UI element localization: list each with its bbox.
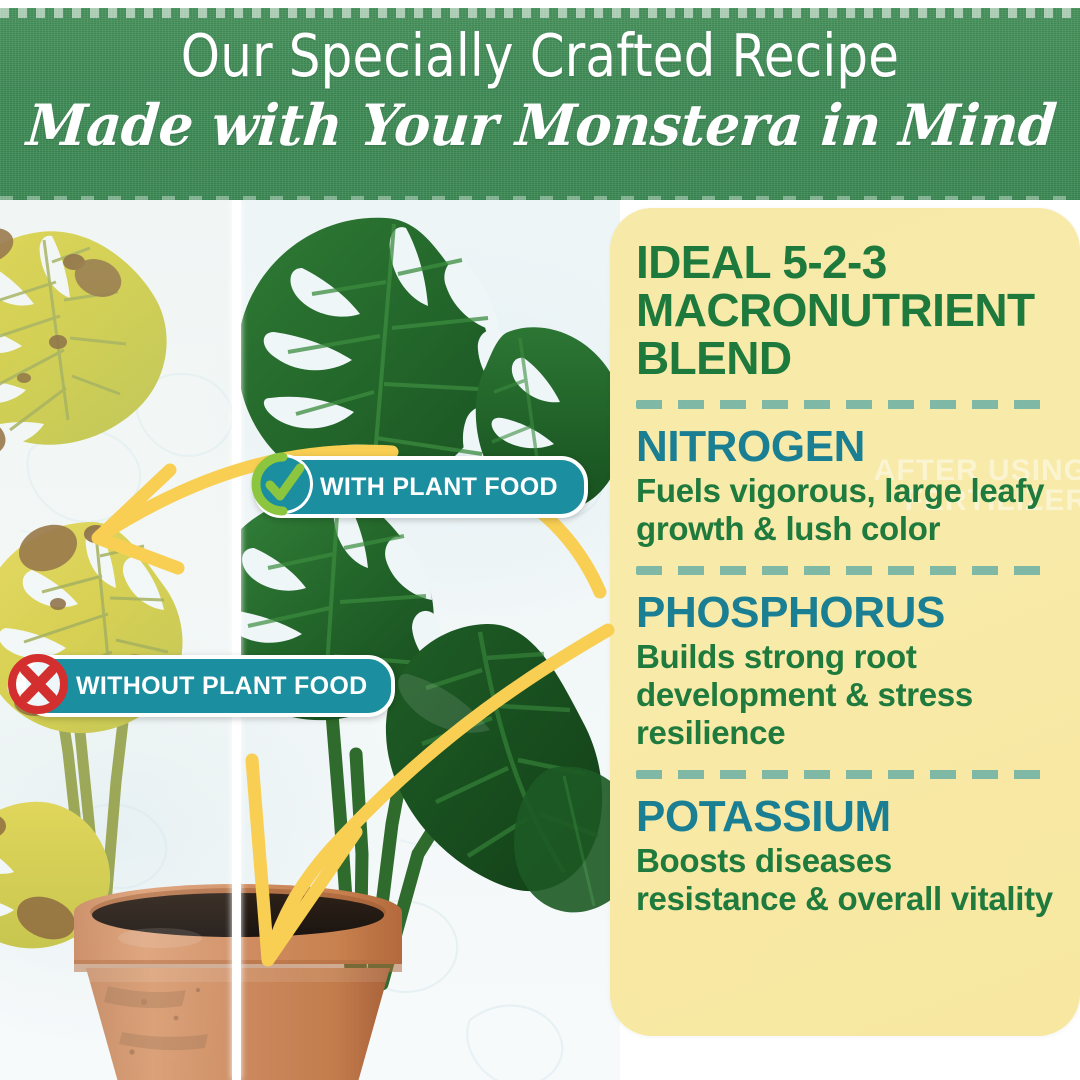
with-plant-food-label: WITH PLANT FOOD <box>320 473 558 502</box>
header-title-line2: Made with Your Monstera in Mind <box>24 95 1055 157</box>
divider-3 <box>636 770 1054 779</box>
nutrient-block-phosphorus: PHOSPHORUS Builds strong root developmen… <box>636 589 1054 752</box>
divider-1 <box>636 400 1054 409</box>
comparison-split-divider <box>232 200 241 1080</box>
check-circle-icon <box>248 449 318 519</box>
nutrient-name-phosphorus: PHOSPHORUS <box>636 589 1054 636</box>
without-plant-food-badge[interactable]: WITHOUT PLANT FOOD <box>22 655 395 717</box>
unhealthy-monstera-plant <box>0 200 270 972</box>
nutrient-name-potassium: POTASSIUM <box>636 793 1054 840</box>
card-title: IDEAL 5-2-3 MACRONUTRIENT BLEND <box>636 238 1054 382</box>
without-plant-food-label: WITHOUT PLANT FOOD <box>76 672 367 701</box>
x-circle-icon <box>2 648 74 720</box>
header-title-line1: Our Specially Crafted Recipe <box>32 24 1047 88</box>
nutrient-desc-phosphorus: Builds strong root development & stress … <box>636 638 1054 752</box>
infographic-canvas: Our Specially Crafted Recipe Made with Y… <box>0 0 1080 1080</box>
nutrient-block-potassium: POTASSIUM Boosts diseases resistance & o… <box>636 793 1054 918</box>
nutrient-desc-nitrogen: Fuels vigorous, large leafy growth & lus… <box>636 472 1054 548</box>
plant-comparison-photo <box>0 200 620 1080</box>
nutrient-desc-potassium: Boosts diseases resistance & overall vit… <box>636 842 1054 918</box>
nutrient-block-nitrogen: NITROGEN Fuels vigorous, large leafy gro… <box>636 423 1054 548</box>
nutrient-name-nitrogen: NITROGEN <box>636 423 1054 470</box>
header-banner: Our Specially Crafted Recipe Made with Y… <box>0 8 1080 200</box>
nutrient-info-card: AFTER USING FERTILIZER IDEAL 5-2-3 MACRO… <box>610 208 1080 1036</box>
divider-2 <box>636 566 1054 575</box>
healthy-monstera-plant <box>232 200 620 994</box>
